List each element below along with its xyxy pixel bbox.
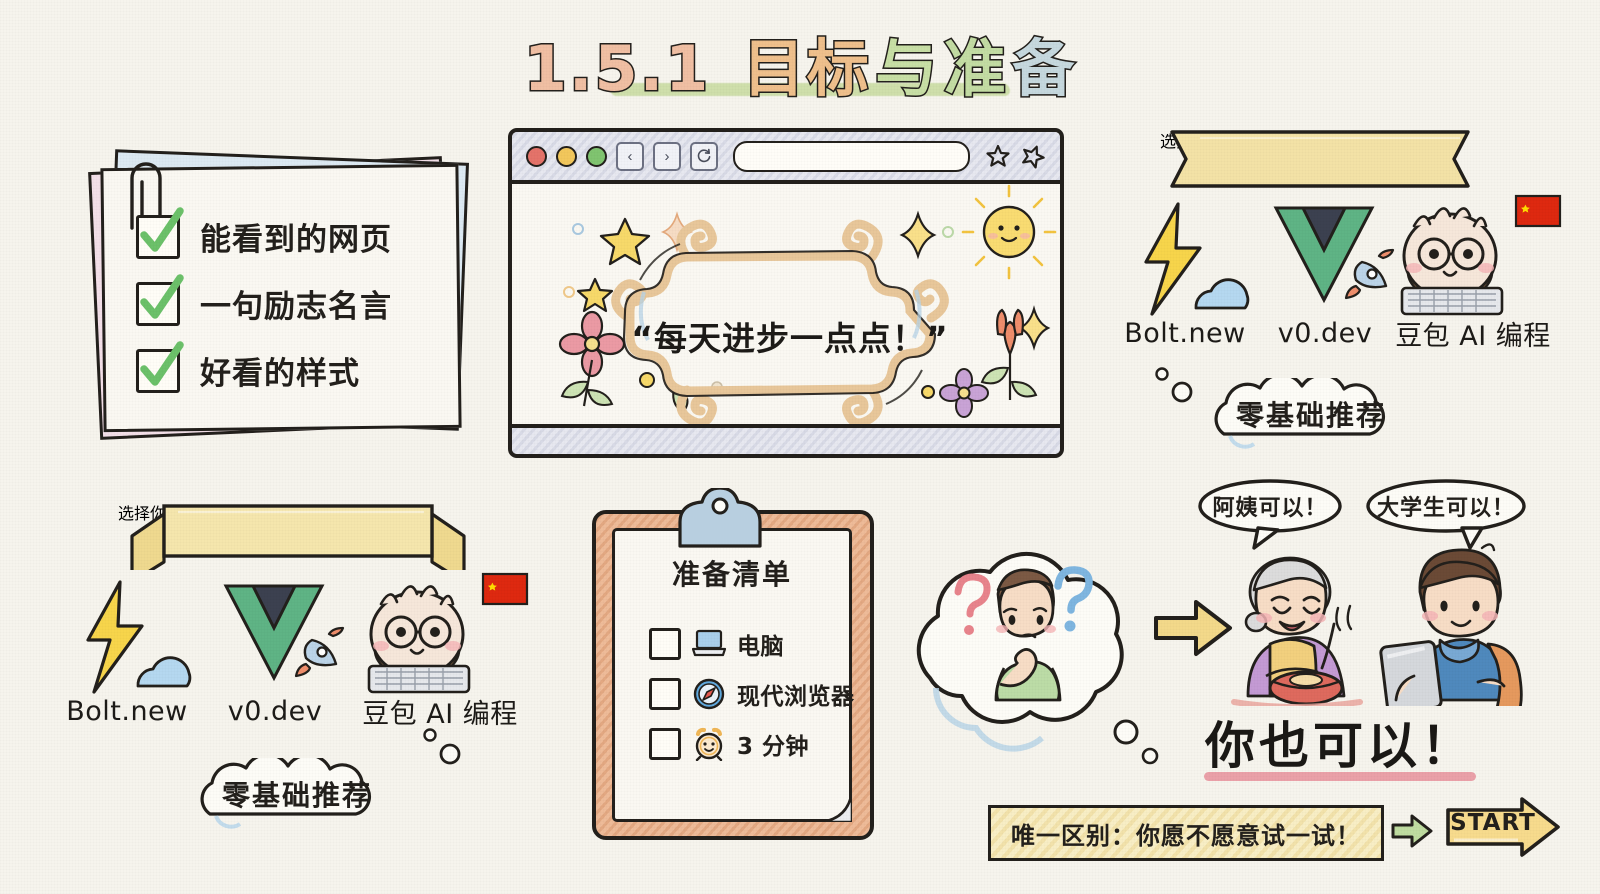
goal-item-0[interactable]: 能看到的网页 xyxy=(136,214,392,259)
compass-browser-icon xyxy=(692,678,726,710)
lightning-bolt-icon xyxy=(42,578,212,698)
dot-decor xyxy=(640,373,654,387)
url-input[interactable] xyxy=(733,141,970,172)
footer-banner-text: 唯一区别：你愿不愿意试一试！ xyxy=(1011,816,1361,851)
pin-icon[interactable] xyxy=(1020,143,1046,169)
browser-statusbar xyxy=(512,424,1060,454)
motivational-quote: “每天进步一点点！” xyxy=(512,312,1060,360)
minimize-dot[interactable] xyxy=(556,146,577,167)
infographic-canvas: 1.5.1 目标 与 准 备 能看到的网页 一句励志名言 xyxy=(0,0,1600,894)
browser-mockup: ‹ › xyxy=(508,128,1064,458)
goal-item-label: 一句励志名言 xyxy=(200,281,392,326)
title-part-3: 准 xyxy=(944,18,1008,108)
recommendation-label: 零基础推荐 xyxy=(172,758,422,830)
tool-card-bolt-bottom[interactable]: Bolt.new xyxy=(42,578,212,703)
prep-item-1[interactable]: 现代浏览器 xyxy=(649,677,855,711)
recommendation-label: 零基础推荐 xyxy=(1186,378,1436,450)
encouragement-headline: 你也可以！ xyxy=(1190,706,1490,778)
title-part-1: 目标 xyxy=(743,18,871,108)
prep-item-2[interactable]: 3 分钟 xyxy=(649,727,855,761)
browser-toolbar: ‹ › xyxy=(512,132,1060,184)
browser-viewport: “每天进步一点点！” xyxy=(512,184,1060,426)
clipboard-title: 准备清单 xyxy=(615,553,849,593)
goal-checklist-card: 能看到的网页 一句励志名言 好看的样式 xyxy=(88,152,468,444)
star-icon[interactable] xyxy=(985,143,1011,169)
start-button-label: START xyxy=(1450,810,1536,836)
page-curl xyxy=(808,778,852,822)
page-title: 1.5.1 目标 与 准 备 xyxy=(0,18,1600,108)
tools-banner-bottom: 选择你的工具 xyxy=(118,500,478,570)
dot-decor xyxy=(564,287,574,297)
title-part-2: 与 xyxy=(875,18,939,108)
sun-icon xyxy=(963,186,1055,278)
thought-bubbles-bottom xyxy=(416,722,472,770)
goal-item-list: 能看到的网页 一句励志名言 好看的样式 xyxy=(136,214,392,415)
goal-item-label: 好看的样式 xyxy=(200,348,360,393)
dot-decor xyxy=(943,227,953,237)
close-dot[interactable] xyxy=(526,146,547,167)
star-icon xyxy=(601,219,649,264)
prep-item-label: 电脑 xyxy=(737,627,784,661)
speech-bubble-text: 大学生可以！ xyxy=(1364,478,1528,534)
preparation-clipboard: 准备清单 电脑 现代浏览器 xyxy=(592,488,872,836)
tool-card-doubao-top[interactable]: 豆包 AI 编程 xyxy=(1378,192,1568,327)
dot-decor xyxy=(573,224,583,234)
checkbox-unchecked[interactable] xyxy=(649,678,681,710)
thinking-cloud-bubbles xyxy=(1108,718,1168,770)
goal-item-label: 能看到的网页 xyxy=(200,214,392,259)
tool-card-v0-bottom[interactable]: v0.dev xyxy=(190,578,360,703)
recommendation-cloud-top: 零基础推荐 xyxy=(1186,378,1436,450)
reload-icon[interactable] xyxy=(690,142,718,171)
china-flag-icon xyxy=(483,574,527,604)
prep-item-label: 3 分钟 xyxy=(737,727,809,761)
grandma-cooking-icon xyxy=(1218,546,1388,706)
flower-icon xyxy=(940,369,988,417)
checkbox-unchecked[interactable] xyxy=(649,628,681,660)
tool-label: 豆包 AI 编程 xyxy=(1378,314,1568,353)
goal-item-1[interactable]: 一句励志名言 xyxy=(136,281,392,326)
rocket-icon xyxy=(296,628,343,676)
maximize-dot[interactable] xyxy=(586,146,607,167)
tool-label: v0.dev xyxy=(190,696,360,727)
recommendation-cloud-bottom: 零基础推荐 xyxy=(172,758,422,830)
speech-bubble-text: 阿姨可以！ xyxy=(1196,478,1344,534)
back-icon[interactable]: ‹ xyxy=(616,142,644,171)
clipboard-clip-icon xyxy=(670,488,790,550)
headline-underline xyxy=(1204,772,1476,781)
footer-banner: 唯一区别：你愿不愿意试一试！ xyxy=(988,805,1384,861)
checkbox-checked[interactable] xyxy=(136,282,180,326)
prep-item-0[interactable]: 电脑 xyxy=(649,627,855,661)
china-flag-icon xyxy=(1516,196,1560,226)
title-part-0: 1.5.1 xyxy=(524,32,711,105)
dumpling-mascot-icon xyxy=(1378,192,1568,322)
dot-decor xyxy=(922,386,934,398)
tools-banner-top: 选择你的工具 xyxy=(1160,128,1480,190)
preparation-item-list: 电脑 现代浏览器 xyxy=(649,627,855,777)
title-part-4: 备 xyxy=(1012,18,1076,108)
student-tablet-icon xyxy=(1378,540,1548,706)
checkbox-checked[interactable] xyxy=(136,215,180,259)
prep-item-label: 现代浏览器 xyxy=(737,677,855,711)
forward-icon[interactable]: › xyxy=(653,142,681,171)
vue-v-icon xyxy=(190,578,360,698)
sparkle-icon xyxy=(902,214,934,256)
star-icon xyxy=(578,279,612,311)
alarm-clock-icon xyxy=(692,727,726,761)
start-button[interactable]: START xyxy=(1444,796,1562,858)
cloud-icon xyxy=(138,658,190,686)
arrow-right-icon xyxy=(1390,812,1434,850)
checkbox-checked[interactable] xyxy=(136,349,180,393)
checkbox-unchecked[interactable] xyxy=(649,728,681,760)
dumpling-mascot-icon xyxy=(345,570,535,700)
thought-bubbles-top xyxy=(1148,362,1202,408)
tool-label: Bolt.new xyxy=(42,696,212,727)
laptop-icon xyxy=(692,629,726,659)
tool-card-doubao-bottom[interactable]: 豆包 AI 编程 xyxy=(345,570,535,705)
browser-window: ‹ › xyxy=(508,128,1064,458)
clipboard-paper: 准备清单 电脑 现代浏览器 xyxy=(612,528,852,822)
goal-item-2[interactable]: 好看的样式 xyxy=(136,348,392,393)
